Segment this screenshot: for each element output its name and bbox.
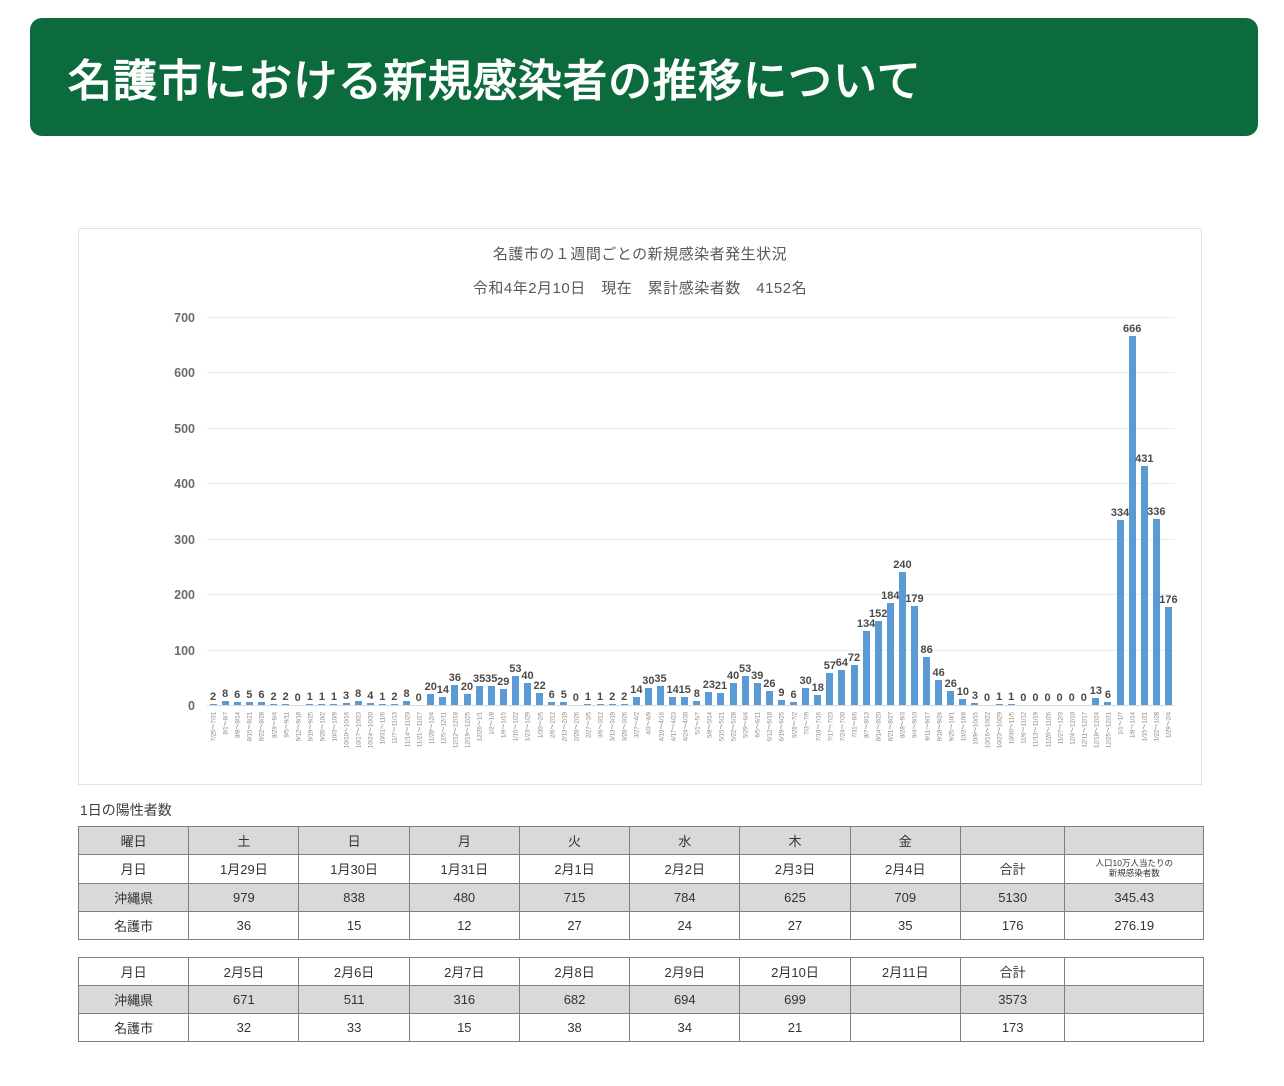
chart-bar-value-label: 57 — [824, 661, 836, 672]
table-cell: 5130 — [960, 883, 1065, 911]
chart-bar-value-label: 1 — [597, 692, 603, 703]
chart-bar-slot: 144/17～4/23 — [667, 317, 679, 705]
chart-bar-value-label: 53 — [509, 664, 521, 675]
x-axis-tick-label: 10/31～11/6 — [378, 712, 387, 744]
chart-bar: 23 — [705, 692, 712, 705]
chart-bar-value-label: 5 — [246, 690, 252, 701]
chart-bar-slot: 62/6～2/12 — [546, 317, 558, 705]
page-title: 名護市における新規感染者の推移について — [68, 45, 922, 109]
chart-panel: 名護市の１週間ごとの新規感染者発生状況 令和4年2月10日 現在 累計感染者数 … — [78, 228, 1202, 785]
x-axis-tick-label: 10/24～10/30 — [366, 712, 375, 748]
chart-bar: 3 — [971, 703, 978, 705]
chart-bar-value-label: 2 — [270, 692, 276, 703]
chart-bar: 1 — [306, 704, 313, 705]
table-cell: 2月6日 — [299, 958, 409, 986]
chart-bar-value-label: 6 — [549, 690, 555, 701]
table-cell: 27 — [740, 911, 850, 939]
title-banner: 名護市における新規感染者の推移について — [30, 18, 1258, 136]
chart-bar: 334 — [1117, 520, 1124, 705]
x-axis-tick-label: 2/20～2/26 — [571, 712, 580, 741]
x-axis-tick-label: 9/11～9/17 — [922, 712, 931, 741]
chart-bar-value-label: 1 — [319, 692, 325, 703]
chart-bar-value-label: 0 — [295, 693, 301, 704]
table-cell: 15 — [299, 911, 409, 939]
x-axis-tick-label: 7/31～8/6 — [850, 712, 859, 738]
chart-bar-slot: 28/29～9/4 — [267, 317, 279, 705]
chart-bar-value-label: 6 — [234, 690, 240, 701]
chart-bar: 184 — [887, 603, 894, 705]
chart-bar: 336 — [1153, 519, 1160, 705]
chart-bar: 9 — [778, 700, 785, 705]
chart-bar-slot: 310/10～10/16 — [340, 317, 352, 705]
table-cell: 1月30日 — [299, 855, 409, 884]
chart-bar-value-label: 0 — [1032, 693, 1038, 704]
x-axis-tick-label: 8/29～9/4 — [269, 712, 278, 738]
chart-bar: 8 — [222, 701, 229, 705]
chart-bar-slot: 13/6～3/12 — [594, 317, 606, 705]
chart-bar: 22 — [536, 693, 543, 705]
x-axis-tick-label: 3/13～3/19 — [608, 712, 617, 741]
table-cell: 日 — [299, 827, 409, 855]
chart-bar-slot: 235/8～5/14 — [703, 317, 715, 705]
chart-bar-slot: 469/18～9/24 — [933, 317, 945, 705]
chart-bar-slot: 011/6～11/12 — [1017, 317, 1029, 705]
table-cell: 名護市 — [79, 911, 189, 939]
chart-bar-value-label: 46 — [933, 668, 945, 679]
table-cell: 32 — [189, 1014, 299, 1042]
x-axis-tick-label: 2/27～3/5 — [583, 712, 592, 738]
chart-bar-value-label: 14 — [437, 685, 449, 696]
x-axis-tick-label: 12/19～12/25 — [463, 712, 472, 748]
x-axis-tick-label: 12/26～1/1 — [475, 712, 484, 741]
x-axis-tick-label: 6/19～6/25 — [777, 712, 786, 741]
chart-bar-value-label: 1 — [585, 692, 591, 703]
x-axis-tick-label: 2/13～2/19 — [559, 712, 568, 741]
chart-bar: 8 — [403, 701, 410, 705]
chart-bar-slot: 2408/28～9/3 — [896, 317, 908, 705]
chart-bar: 1 — [584, 704, 591, 705]
x-axis-tick-label: 1/15～1/21 — [1140, 712, 1149, 741]
chart-bar: 14 — [633, 697, 640, 705]
x-axis-tick-label: 9/26～10/2 — [317, 712, 326, 741]
chart-bar-value-label: 53 — [739, 664, 751, 675]
x-axis-tick-label: 4/3～4/9 — [644, 712, 653, 735]
chart-bar-value-label: 2 — [621, 692, 627, 703]
chart-bar-slot: 401/23～1/29 — [521, 317, 533, 705]
chart-bar-value-label: 6 — [790, 690, 796, 701]
x-axis-tick-label: 8/7～8/13 — [862, 712, 871, 738]
x-axis-tick-label: 3/27～4/2 — [632, 712, 641, 738]
chart-bar-value-label: 1 — [379, 692, 385, 703]
x-axis-tick-label: 8/22～8/28 — [257, 712, 266, 741]
chart-bar-slot: 3361/22～1/28 — [1150, 317, 1162, 705]
x-axis-tick-label: 12/12～12/18 — [450, 712, 459, 748]
table-cell: 人口10万人当たりの新規感染者数 — [1065, 855, 1204, 884]
table-cell: 沖縄県 — [79, 986, 189, 1014]
chart-bar-value-label: 40 — [521, 671, 533, 682]
chart-bar-value-label: 6 — [1105, 690, 1111, 701]
chart-bar-slot: 110/23～10/29 — [993, 317, 1005, 705]
table-cell: 33 — [299, 1014, 409, 1042]
chart-bar-slot: 29/5～9/11 — [280, 317, 292, 705]
x-axis-tick-label: 8/14～8/20 — [874, 712, 883, 741]
table-cell: 1月29日 — [189, 855, 299, 884]
x-axis-tick-label: 6/12～6/18 — [765, 712, 774, 741]
chart-bar: 1 — [330, 704, 337, 705]
x-axis-tick-label: 3/6～3/12 — [596, 712, 605, 738]
chart-bar: 64 — [838, 670, 845, 705]
chart-bar-value-label: 35 — [654, 674, 666, 685]
x-axis-tick-label: 7/25～7/31 — [209, 712, 218, 741]
x-axis-tick-label: 4/17～4/23 — [668, 712, 677, 741]
table-cell: 火 — [519, 827, 629, 855]
chart-bar-value-label: 20 — [425, 682, 437, 693]
chart-bar: 1 — [318, 704, 325, 705]
chart-bar-value-label: 10 — [957, 687, 969, 698]
table-cell: 土 — [189, 827, 299, 855]
chart-bar: 1 — [1008, 704, 1015, 705]
chart-bar-slot: 1348/7～8/13 — [860, 317, 872, 705]
chart-bar-value-label: 2 — [210, 692, 216, 703]
table-cell: 480 — [409, 883, 519, 911]
chart-bar: 30 — [645, 688, 652, 705]
chart-bar-value-label: 20 — [461, 682, 473, 693]
chart-bar-value-label: 0 — [1020, 693, 1026, 704]
chart-bar-slot: 869/11～9/17 — [921, 317, 933, 705]
chart-bar-value-label: 18 — [812, 683, 824, 694]
table-cell: 709 — [850, 883, 960, 911]
chart-bar: 6 — [790, 702, 797, 705]
chart-bar: 1 — [597, 704, 604, 705]
chart-bar: 179 — [911, 606, 918, 705]
chart-bar-value-label: 1 — [307, 692, 313, 703]
x-axis-tick-label: 12/4～12/10 — [1067, 712, 1076, 745]
chart-bar: 2 — [210, 704, 217, 705]
chart-bar-slot: 012/11～12/17 — [1078, 317, 1090, 705]
x-axis-tick-label: 6/26～7/2 — [789, 712, 798, 738]
chart-bar-value-label: 9 — [778, 688, 784, 699]
chart-bar-slot: 354/10～4/16 — [654, 317, 666, 705]
x-axis-tick-label: 8/28～9/3 — [898, 712, 907, 738]
chart-bar-slot: 12/27～3/5 — [582, 317, 594, 705]
table-cell: 979 — [189, 883, 299, 911]
chart-bar-value-label: 36 — [449, 673, 461, 684]
chart-bar-slot: 110/3～10/9 — [328, 317, 340, 705]
table-row: 名護市323315383421173 — [79, 1014, 1204, 1042]
chart-bar-slot: 1799/4～9/10 — [908, 317, 920, 705]
chart-bar-value-label: 2 — [391, 692, 397, 703]
x-axis-tick-label: 5/15～5/21 — [716, 712, 725, 741]
table-cell: 694 — [630, 986, 740, 1014]
x-axis-tick-label: 5/29～6/4 — [741, 712, 750, 738]
chart-bar-slot: 66/26～7/2 — [788, 317, 800, 705]
table-cell: 2月9日 — [630, 958, 740, 986]
x-axis-tick-label: 9/25～10/1 — [946, 712, 955, 741]
chart-bar-value-label: 4 — [367, 691, 373, 702]
chart-bar: 2 — [282, 704, 289, 705]
table-cell: 2月2日 — [630, 855, 740, 884]
chart-bar-slot: 221/30～2/5 — [534, 317, 546, 705]
x-axis-tick-label: 4/10～4/16 — [656, 712, 665, 741]
chart-bar-slot: 1010/2～10/8 — [957, 317, 969, 705]
table-cell: 276.19 — [1065, 911, 1204, 939]
chart-bar: 26 — [766, 691, 773, 705]
chart-bar: 13 — [1092, 698, 1099, 705]
chart-bar: 35 — [488, 686, 495, 705]
chart-bar-slot: 307/3～7/9 — [800, 317, 812, 705]
chart-bar: 20 — [464, 694, 471, 705]
chart-bar: 176 — [1165, 607, 1172, 705]
chart-bar-value-label: 23 — [703, 680, 715, 691]
table-cell: 838 — [299, 883, 409, 911]
y-axis-tick-label: 700 — [174, 311, 195, 325]
chart-bar-slot: 811/14～11/20 — [401, 317, 413, 705]
chart-bar-value-label: 40 — [727, 671, 739, 682]
chart-bar-slot: 535/29～6/4 — [739, 317, 751, 705]
chart-bar-value-label: 30 — [800, 676, 812, 687]
chart-bar-slot: 410/24～10/30 — [364, 317, 376, 705]
chart-bar: 57 — [826, 673, 833, 705]
x-axis-tick-label: 11/27～12/3 — [1055, 712, 1064, 744]
x-axis-tick-label: 4/24～4/30 — [680, 712, 689, 741]
table-cell: 曜日 — [79, 827, 189, 855]
chart-bar-slot: 310/9～10/15 — [969, 317, 981, 705]
x-axis-tick-label: 10/16～10/22 — [983, 712, 992, 748]
y-axis-tick-label: 400 — [174, 477, 195, 491]
chart-bar-slot: 266/12～6/18 — [763, 317, 775, 705]
x-axis-tick-label: 1/30～2/5 — [535, 712, 544, 738]
x-axis-tick-label: 10/2～10/8 — [958, 712, 967, 741]
chart-bar: 10 — [959, 699, 966, 705]
chart-bar-slot: 27/25～7/31 — [207, 317, 219, 705]
table-cell: 2月3日 — [740, 855, 850, 884]
chart-bar-value-label: 0 — [984, 693, 990, 704]
table-cell: 15 — [409, 1014, 519, 1042]
table-cell: 12 — [409, 911, 519, 939]
table-cell: 27 — [519, 911, 629, 939]
chart-bar-value-label: 2 — [609, 692, 615, 703]
table-cell — [1065, 827, 1204, 855]
chart-bar: 29 — [500, 689, 507, 705]
x-axis-tick-label: 9/12～9/18 — [293, 712, 302, 741]
y-axis-tick-label: 200 — [174, 588, 195, 602]
x-axis-tick-label: 6/5～6/11 — [753, 712, 762, 738]
x-axis-tick-label: 5/8～5/14 — [704, 712, 713, 738]
y-axis-tick-label: 500 — [174, 422, 195, 436]
chart-bar-value-label: 35 — [485, 674, 497, 685]
chart-bar-value-label: 39 — [751, 671, 763, 682]
table-cell — [1065, 1014, 1204, 1042]
chart-bar: 53 — [512, 676, 519, 705]
table-cell: 176 — [960, 911, 1065, 939]
chart-bar-slot: 1528/14～8/20 — [872, 317, 884, 705]
chart-bar-value-label: 22 — [533, 681, 545, 692]
x-axis-tick-label: 8/1～8/7 — [221, 712, 230, 735]
chart-bar-slot: 09/12～9/18 — [292, 317, 304, 705]
x-axis-tick-label: 1/16～1/22 — [511, 712, 520, 741]
x-axis-tick-label: 1/29～2/4 — [1164, 712, 1173, 738]
chart-bar: 14 — [669, 697, 676, 705]
table-cell: 36 — [189, 911, 299, 939]
chart-bar: 26 — [947, 691, 954, 705]
chart-bar: 2 — [609, 704, 616, 705]
chart-bar-slot: 3341/1～1/7 — [1114, 317, 1126, 705]
chart-bar-slot: 96/19～6/25 — [775, 317, 787, 705]
table-cell: 2月8日 — [519, 958, 629, 986]
x-axis-tick-label: 10/3～10/9 — [329, 712, 338, 741]
chart-bar-value-label: 1 — [1008, 692, 1014, 703]
table-cell-line: 新規感染者数 — [1067, 869, 1201, 879]
chart-bar: 431 — [1141, 466, 1148, 705]
chart-bar-value-label: 0 — [573, 693, 579, 704]
slide-page: 名護市における新規感染者の推移について 名護市の１週間ごとの新規感染者発生状況 … — [0, 0, 1284, 1086]
chart-plot-area: 0100200300400500600700 27/25～7/3188/1～8/… — [207, 317, 1175, 705]
chart-bar-slot: 58/15～8/21 — [243, 317, 255, 705]
chart-bar: 4 — [367, 703, 374, 705]
y-axis-tick-label: 300 — [174, 533, 195, 547]
chart-bar-slot: 211/7～11/13 — [388, 317, 400, 705]
x-axis-tick-label: 10/17～10/23 — [354, 712, 363, 748]
chart-bar-slot: 269/25～10/1 — [945, 317, 957, 705]
x-axis-tick-label: 10/10～10/16 — [342, 712, 351, 748]
chart-bar: 5 — [560, 702, 567, 705]
y-axis-tick-label: 0 — [188, 699, 195, 713]
chart-bar-slot: 154/24～4/30 — [679, 317, 691, 705]
table-cell: 173 — [960, 1014, 1065, 1042]
x-axis-tick-label: 12/25～12/31 — [1103, 712, 1112, 748]
chart-bar-slot: 1848/21～8/27 — [884, 317, 896, 705]
table-cell: 金 — [850, 827, 960, 855]
table-cell: 3573 — [960, 986, 1065, 1014]
chart-bar-value-label: 29 — [497, 677, 509, 688]
chart-bar: 20 — [427, 694, 434, 705]
x-axis-tick-label: 2/6～2/12 — [547, 712, 556, 738]
chart-bar: 666 — [1129, 336, 1136, 705]
y-axis-tick-label: 100 — [174, 644, 195, 658]
chart-bar-slot: 85/1～5/7 — [691, 317, 703, 705]
chart-bar-slot: 2011/28～12/4 — [425, 317, 437, 705]
table-cell: 715 — [519, 883, 629, 911]
chart-bar: 21 — [717, 693, 724, 705]
x-axis-tick-label: 9/18～9/24 — [934, 712, 943, 741]
daily-positive-table-week2: 月日2月5日2月6日2月7日2月8日2月9日2月10日2月11日合計沖縄県671… — [78, 957, 1204, 1042]
chart-bar-slot: 1412/5～12/11 — [437, 317, 449, 705]
table-row: 沖縄県9798384807157846257095130345.43 — [79, 883, 1204, 911]
chart-title-block: 名護市の１週間ごとの新規感染者発生状況 令和4年2月10日 現在 累計感染者数 … — [79, 243, 1201, 298]
chart-bar-value-label: 8 — [355, 689, 361, 700]
x-axis-tick-label: 8/15～8/21 — [245, 712, 254, 741]
chart-bar: 1 — [996, 704, 1003, 705]
table-cell: 345.43 — [1065, 883, 1204, 911]
chart-bar: 8 — [693, 701, 700, 705]
x-axis-tick-label: 9/5～9/11 — [281, 712, 290, 738]
table-cell: 木 — [740, 827, 850, 855]
table-row: 曜日土日月火水木金 — [79, 827, 1204, 855]
table-cell — [1065, 958, 1204, 986]
table-cell: 2月11日 — [850, 958, 960, 986]
chart-bar: 6 — [258, 702, 265, 705]
table-cell: 2月5日 — [189, 958, 299, 986]
chart-bar: 2 — [391, 704, 398, 705]
chart-bar-value-label: 6 — [258, 690, 264, 701]
chart-bar-slot: 012/4～12/10 — [1066, 317, 1078, 705]
chart-bar-slot: 68/22～8/28 — [255, 317, 267, 705]
chart-bar-value-label: 1 — [331, 692, 337, 703]
chart-bar-slot: 68/8～8/14 — [231, 317, 243, 705]
table-cell — [960, 827, 1065, 855]
x-axis-tick-label: 11/20～11/26 — [1043, 712, 1052, 747]
chart-bar-slot: 2012/19～12/25 — [461, 317, 473, 705]
table-cell: 682 — [519, 986, 629, 1014]
chart-bar-slot: 110/30～11/5 — [1005, 317, 1017, 705]
chart-bar-slot: 304/3～4/9 — [642, 317, 654, 705]
chart-bar-value-label: 26 — [945, 679, 957, 690]
chart-bar: 6 — [234, 702, 241, 705]
table-cell: 625 — [740, 883, 850, 911]
chart-bar: 53 — [742, 676, 749, 705]
chart-bar: 35 — [657, 686, 664, 705]
table-cell: 月日 — [79, 855, 189, 884]
table-cell: 2月10日 — [740, 958, 850, 986]
chart-bar-value-label: 86 — [920, 645, 932, 656]
x-axis-tick-label: 5/22～5/28 — [729, 712, 738, 741]
chart-bar: 30 — [802, 688, 809, 705]
chart-bar-slot: 291/9～1/15 — [497, 317, 509, 705]
chart-bar: 36 — [451, 685, 458, 705]
table-cell — [850, 986, 960, 1014]
chart-bar-value-label: 0 — [1044, 693, 1050, 704]
table-row: 月日2月5日2月6日2月7日2月8日2月9日2月10日2月11日合計 — [79, 958, 1204, 986]
chart-bar: 3 — [343, 703, 350, 705]
chart-subtitle: 令和4年2月10日 現在 累計感染者数 4152名 — [79, 277, 1201, 298]
chart-bar-slot: 011/13～11/19 — [1029, 317, 1041, 705]
daily-positive-table-week1: 曜日土日月火水木金月日1月29日1月30日1月31日2月1日2月2日2月3日2月… — [78, 826, 1204, 940]
x-axis-tick-label: 11/28～12/4 — [426, 712, 435, 744]
chart-bar-slot: 810/17～10/23 — [352, 317, 364, 705]
x-axis-tick-label: 8/8～8/14 — [233, 712, 242, 738]
chart-bar-slot: 52/13～2/19 — [558, 317, 570, 705]
table-caption: 1日の陽性者数 — [80, 800, 172, 820]
chart-bar-value-label: 30 — [642, 676, 654, 687]
x-axis-tick-label: 3/20～3/26 — [620, 712, 629, 741]
gridline: 0 — [207, 705, 1175, 706]
table-cell: 34 — [630, 1014, 740, 1042]
table-cell: 2月1日 — [519, 855, 629, 884]
chart-title: 名護市の１週間ごとの新規感染者発生状況 — [79, 243, 1201, 264]
table-cell: 38 — [519, 1014, 629, 1042]
table-row: 名護市36151227242735176276.19 — [79, 911, 1204, 939]
table-cell: 合計 — [960, 855, 1065, 884]
x-axis-tick-label: 11/7～11/13 — [390, 712, 399, 744]
chart-bar-slot: 647/24～7/30 — [836, 317, 848, 705]
table-cell — [850, 1014, 960, 1042]
table-cell: 1月31日 — [409, 855, 519, 884]
chart-bar-value-label: 26 — [763, 679, 775, 690]
x-axis-tick-label: 9/19～9/25 — [305, 712, 314, 741]
y-axis-tick-label: 600 — [174, 366, 195, 380]
chart-bar-value-label: 0 — [1069, 693, 1075, 704]
table-cell: 水 — [630, 827, 740, 855]
chart-bar-slot: 011/21～11/27 — [413, 317, 425, 705]
x-axis-tick-label: 10/30～11/5 — [1007, 712, 1016, 744]
table-cell: 699 — [740, 986, 850, 1014]
x-axis-tick-label: 8/21～8/27 — [886, 712, 895, 741]
table-cell: 月 — [409, 827, 519, 855]
chart-bar-value-label: 0 — [1057, 693, 1063, 704]
table-cell: 合計 — [960, 958, 1065, 986]
x-axis-tick-label: 1/22～1/28 — [1152, 712, 1161, 741]
x-axis-tick-label: 12/5～12/11 — [438, 712, 447, 744]
